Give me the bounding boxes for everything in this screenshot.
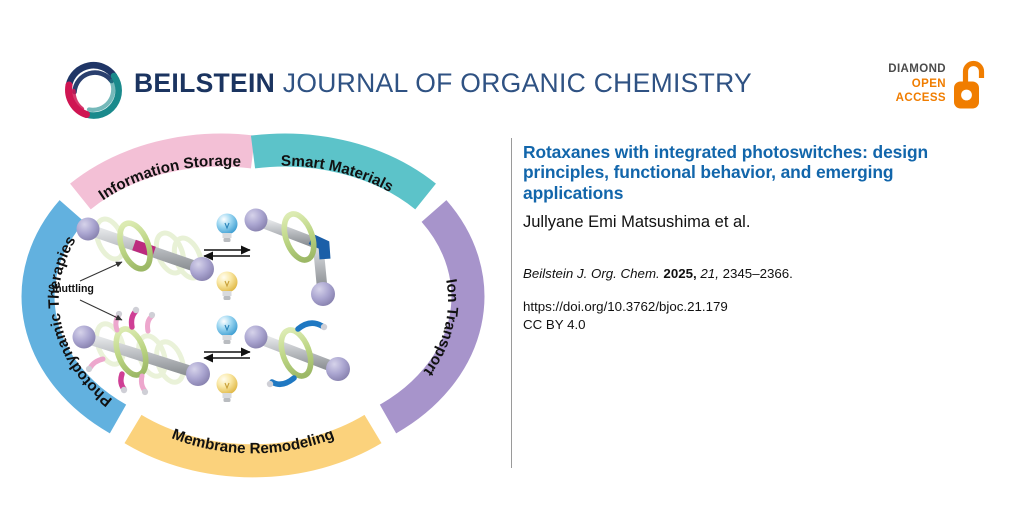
citation-year: 2025, bbox=[663, 266, 696, 281]
column-divider bbox=[511, 138, 512, 468]
masthead: BEILSTEIN JOURNAL OF ORGANIC CHEMISTRY D… bbox=[0, 0, 1024, 132]
open-lock-icon bbox=[952, 60, 986, 112]
wordmark-light: JOURNAL OF ORGANIC CHEMISTRY bbox=[283, 68, 752, 98]
wordmark-bold: BEILSTEIN bbox=[134, 68, 275, 98]
yellow-lightbulb-icon bbox=[217, 272, 238, 301]
citation-line: Beilstein J. Org. Chem. 2025, 21, 2345–2… bbox=[523, 265, 963, 283]
molecule-rotaxane-extended bbox=[77, 215, 215, 282]
citation-journal: Beilstein J. Org. Chem. bbox=[523, 266, 660, 281]
oa-line-open: OPEN bbox=[872, 77, 946, 92]
blue-lightbulb-icon bbox=[217, 214, 238, 243]
molecule-rotaxane-blue-appendages bbox=[245, 323, 351, 387]
graphical-abstract-figure: Information Storage Smart Materials Ion … bbox=[18, 126, 488, 486]
diamond-open-access-badge: DIAMOND OPEN ACCESS bbox=[872, 60, 982, 118]
doi-block: https://doi.org/10.3762/bjoc.21.179 CC B… bbox=[523, 298, 963, 333]
page-title: Rotaxanes with integrated photoswitches:… bbox=[523, 142, 963, 203]
shuttling-label: Shuttling bbox=[48, 283, 94, 295]
doi-link[interactable]: https://doi.org/10.3762/bjoc.21.179 bbox=[523, 298, 963, 316]
journal-wordmark: BEILSTEIN JOURNAL OF ORGANIC CHEMISTRY bbox=[134, 68, 752, 99]
blue-lightbulb-icon-2 bbox=[217, 316, 238, 345]
license-label: CC BY 4.0 bbox=[523, 316, 963, 334]
article-authors: Jullyane Emi Matsushima et al. bbox=[523, 212, 963, 232]
stimulus-arrows-bottom bbox=[204, 352, 250, 358]
oa-line-diamond: DIAMOND bbox=[872, 62, 946, 77]
open-access-text: DIAMOND OPEN ACCESS bbox=[872, 62, 946, 106]
article-info: Rotaxanes with integrated photoswitches:… bbox=[523, 142, 963, 333]
citation-pages: 2345–2366. bbox=[723, 266, 793, 281]
beilstein-spiral-logo bbox=[56, 52, 128, 124]
citation-volume: 21, bbox=[700, 266, 719, 281]
oa-line-access: ACCESS bbox=[872, 91, 946, 106]
molecule-rotaxane-contracted bbox=[245, 209, 336, 307]
stimulus-arrows-top bbox=[204, 250, 250, 256]
yellow-lightbulb-icon-2 bbox=[217, 374, 238, 403]
